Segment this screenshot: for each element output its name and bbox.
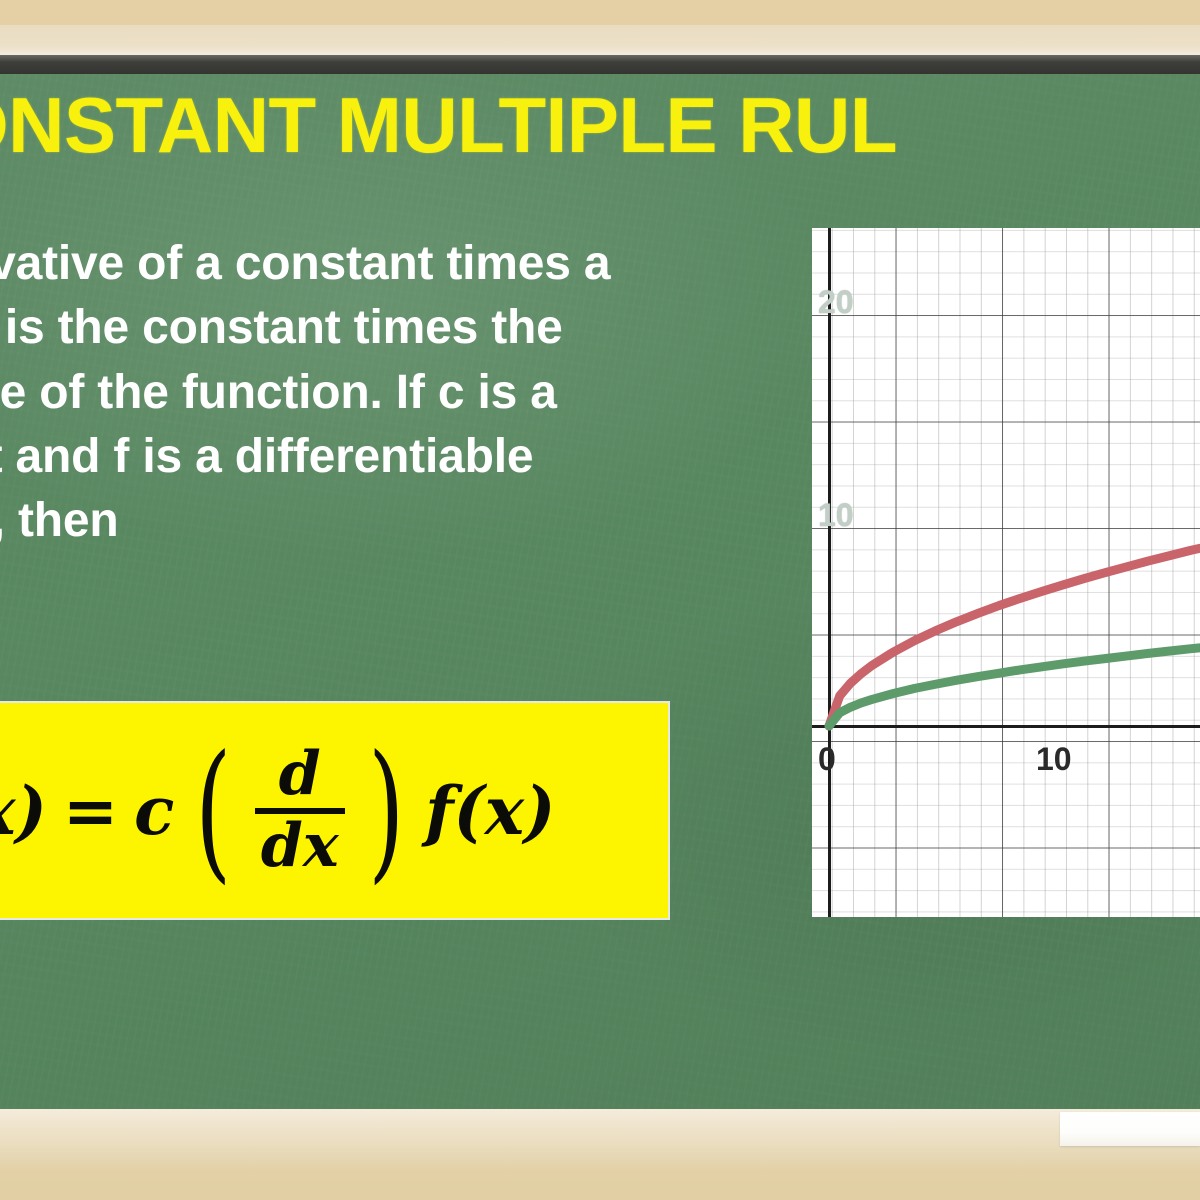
paren-open: ( — [195, 766, 231, 856]
function-graph: 20 10 0 10 — [812, 228, 1200, 917]
frame-top-inner — [0, 25, 1200, 55]
constant-multiple-formula: f(x) = c ( d dx ) f(x) — [0, 744, 555, 876]
slide-canvas: ONSTANT MULTIPLE RUL The derivative of a… — [0, 0, 1200, 1200]
paren-close: ) — [368, 766, 404, 856]
formula-lhs: f(x) — [0, 772, 47, 850]
x-tick-10: 10 — [1036, 743, 1072, 775]
chalk-ledge-top — [0, 1109, 1200, 1147]
formula-equals: = — [57, 772, 124, 850]
frame-top-outer — [0, 0, 1200, 25]
x-tick-0: 0 — [818, 743, 836, 775]
fraction-numerator: d — [269, 744, 331, 807]
fraction-denominator: dx — [255, 814, 345, 877]
formula-banner: f(x) = c ( d dx ) f(x) — [0, 701, 670, 920]
page-title: ONSTANT MULTIPLE RUL — [0, 86, 1200, 164]
derivative-operator: d dx — [253, 744, 347, 876]
y-tick-20: 20 — [818, 286, 854, 318]
curve-layer — [812, 228, 1200, 917]
formula-constant: c — [134, 772, 174, 850]
chalk-ledge-front — [0, 1147, 1200, 1200]
chalk-piece — [1060, 1112, 1200, 1146]
y-tick-10: 10 — [818, 499, 854, 531]
board-top-rail — [0, 55, 1200, 75]
formula-rhs: f(x) — [425, 772, 555, 850]
body-paragraph: The derivative of a constant times a fun… — [0, 232, 734, 554]
